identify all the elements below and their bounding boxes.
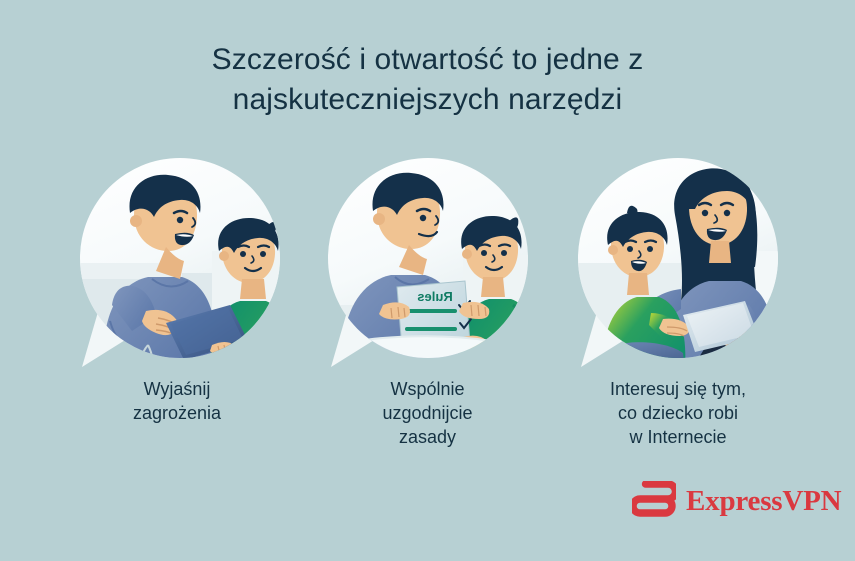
speech-bubble-1 — [62, 155, 292, 370]
expressvpn-logo: ExpressVPN — [632, 481, 841, 521]
title-line-1: Szczerość i otwartość to jedne z — [0, 40, 855, 80]
panel-agree-rules: Rules — [313, 155, 543, 465]
caption-line: zagrożenia — [62, 401, 292, 425]
title-line-2: najskuteczniejszych narzędzi — [0, 80, 855, 120]
illustration-father-and-son-with-rules-sheet: Rules — [313, 155, 543, 370]
caption-line: co dziecko robi — [563, 401, 793, 425]
speech-bubble-3 — [563, 155, 793, 370]
caption-line: w Internecie — [563, 425, 793, 449]
illustration-father-and-son-with-tablet — [62, 155, 292, 370]
caption-line: zasady — [313, 425, 543, 449]
expressvpn-wordmark: ExpressVPN — [686, 487, 841, 516]
caption-line: Wspólnie — [313, 377, 543, 401]
rules-sheet-title: Rules — [417, 289, 452, 304]
illustration-mother-and-son-with-tablet — [563, 155, 793, 370]
speech-bubble-2: Rules — [313, 155, 543, 370]
caption-line: Interesuj się tym, — [563, 377, 793, 401]
page-title: Szczerość i otwartość to jedne z najskut… — [0, 40, 855, 120]
expressvpn-e-icon — [632, 481, 676, 521]
caption-agree-rules: Wspólnie uzgodnijcie zasady — [313, 377, 543, 449]
panel-take-interest-online: Interesuj się tym, co dziecko robi w Int… — [563, 155, 793, 465]
caption-explain-dangers: Wyjaśnij zagrożenia — [62, 377, 292, 425]
caption-line: uzgodnijcie — [313, 401, 543, 425]
caption-take-interest-online: Interesuj się tym, co dziecko robi w Int… — [563, 377, 793, 449]
panel-explain-dangers: Wyjaśnij zagrożenia — [62, 155, 292, 465]
infographic-canvas: Szczerość i otwartość to jedne z najskut… — [0, 0, 855, 561]
caption-line: Wyjaśnij — [62, 377, 292, 401]
panel-row: Wyjaśnij zagrożenia — [0, 155, 855, 465]
